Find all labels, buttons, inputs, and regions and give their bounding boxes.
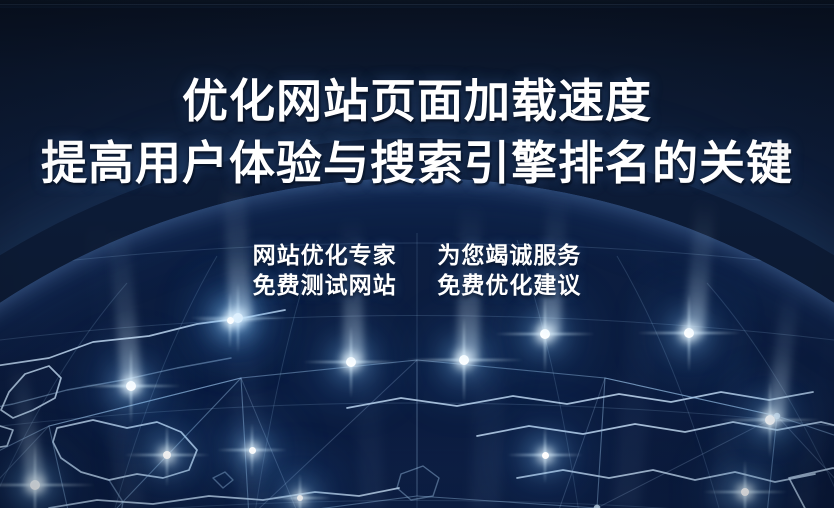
- seo-promo-banner: 优化网站页面加载速度 提高用户体验与搜索引擎排名的关键 网站优化专家 为您竭诚服…: [0, 0, 834, 508]
- subtitle-2-right: 免费优化建议: [437, 272, 581, 298]
- top-edge-strip: [0, 0, 834, 8]
- subtitle-2-left: 免费测试网站: [253, 272, 397, 298]
- subtitle-1-right: 为您竭诚服务: [437, 242, 581, 268]
- headline-line-2: 提高用户体验与搜索引擎排名的关键: [0, 140, 834, 187]
- globe-network-graphic: [0, 178, 834, 508]
- subtitle-line-2: 免费测试网站 免费优化建议: [0, 266, 834, 300]
- headline-line-1: 优化网站页面加载速度: [0, 78, 834, 125]
- subtitle-1-left: 网站优化专家: [253, 242, 397, 268]
- subtitle-line-1: 网站优化专家 为您竭诚服务: [0, 236, 834, 270]
